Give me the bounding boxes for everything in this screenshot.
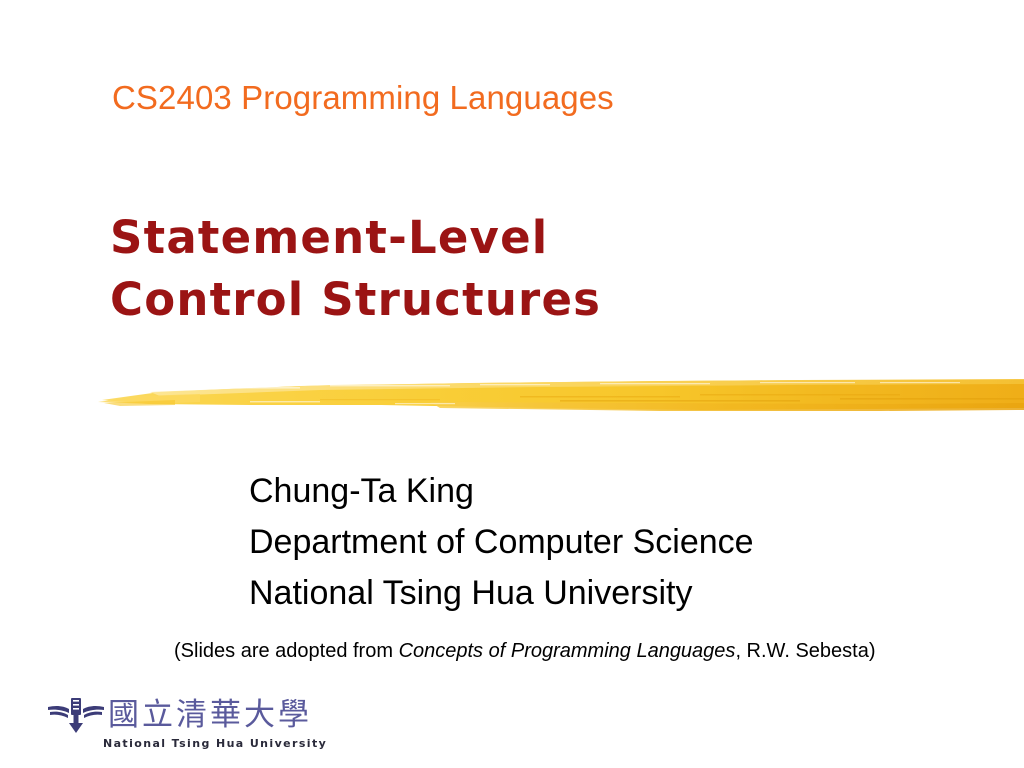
nthu-emblem-icon bbox=[47, 695, 105, 735]
attribution-note: (Slides are adopted from Concepts of Pro… bbox=[174, 640, 876, 663]
slide-canvas: CS2403 Programming Languages Statement-L… bbox=[0, 0, 1024, 768]
brush-left-taper bbox=[98, 394, 200, 404]
attribution-prefix: (Slides are adopted from bbox=[174, 640, 399, 662]
logo-english-name: National Tsing Hua University bbox=[103, 737, 322, 750]
page-title: Statement-Level Control Structures bbox=[110, 207, 601, 331]
brush-highlight bbox=[150, 379, 1024, 396]
university-logo: 國立清華大學 National Tsing Hua University bbox=[47, 694, 322, 754]
brush-texture bbox=[210, 382, 960, 404]
brush-stroke-divider bbox=[0, 372, 1024, 424]
logo-row: 國立清華大學 bbox=[47, 694, 322, 736]
brush-body bbox=[102, 380, 1024, 410]
brush-left-taper-2 bbox=[104, 400, 175, 406]
attribution-suffix: , R.W. Sebesta) bbox=[735, 640, 875, 662]
author-university: National Tsing Hua University bbox=[249, 568, 754, 619]
brush-shadow bbox=[430, 402, 1024, 411]
author-name: Chung-Ta King bbox=[249, 466, 754, 517]
page-title-line-1: Statement-Level bbox=[110, 207, 601, 269]
author-department: Department of Computer Science bbox=[249, 517, 754, 568]
attribution-book-title: Concepts of Programming Languages bbox=[399, 640, 736, 662]
logo-chinese-name: 國立清華大學 bbox=[108, 695, 312, 735]
page-title-line-2: Control Structures bbox=[110, 269, 601, 331]
brush-stroke-icon bbox=[0, 372, 1024, 424]
brush-texture-dark bbox=[320, 394, 1024, 402]
course-title: CS2403 Programming Languages bbox=[112, 79, 614, 117]
author-block: Chung-Ta King Department of Computer Sci… bbox=[249, 466, 754, 619]
